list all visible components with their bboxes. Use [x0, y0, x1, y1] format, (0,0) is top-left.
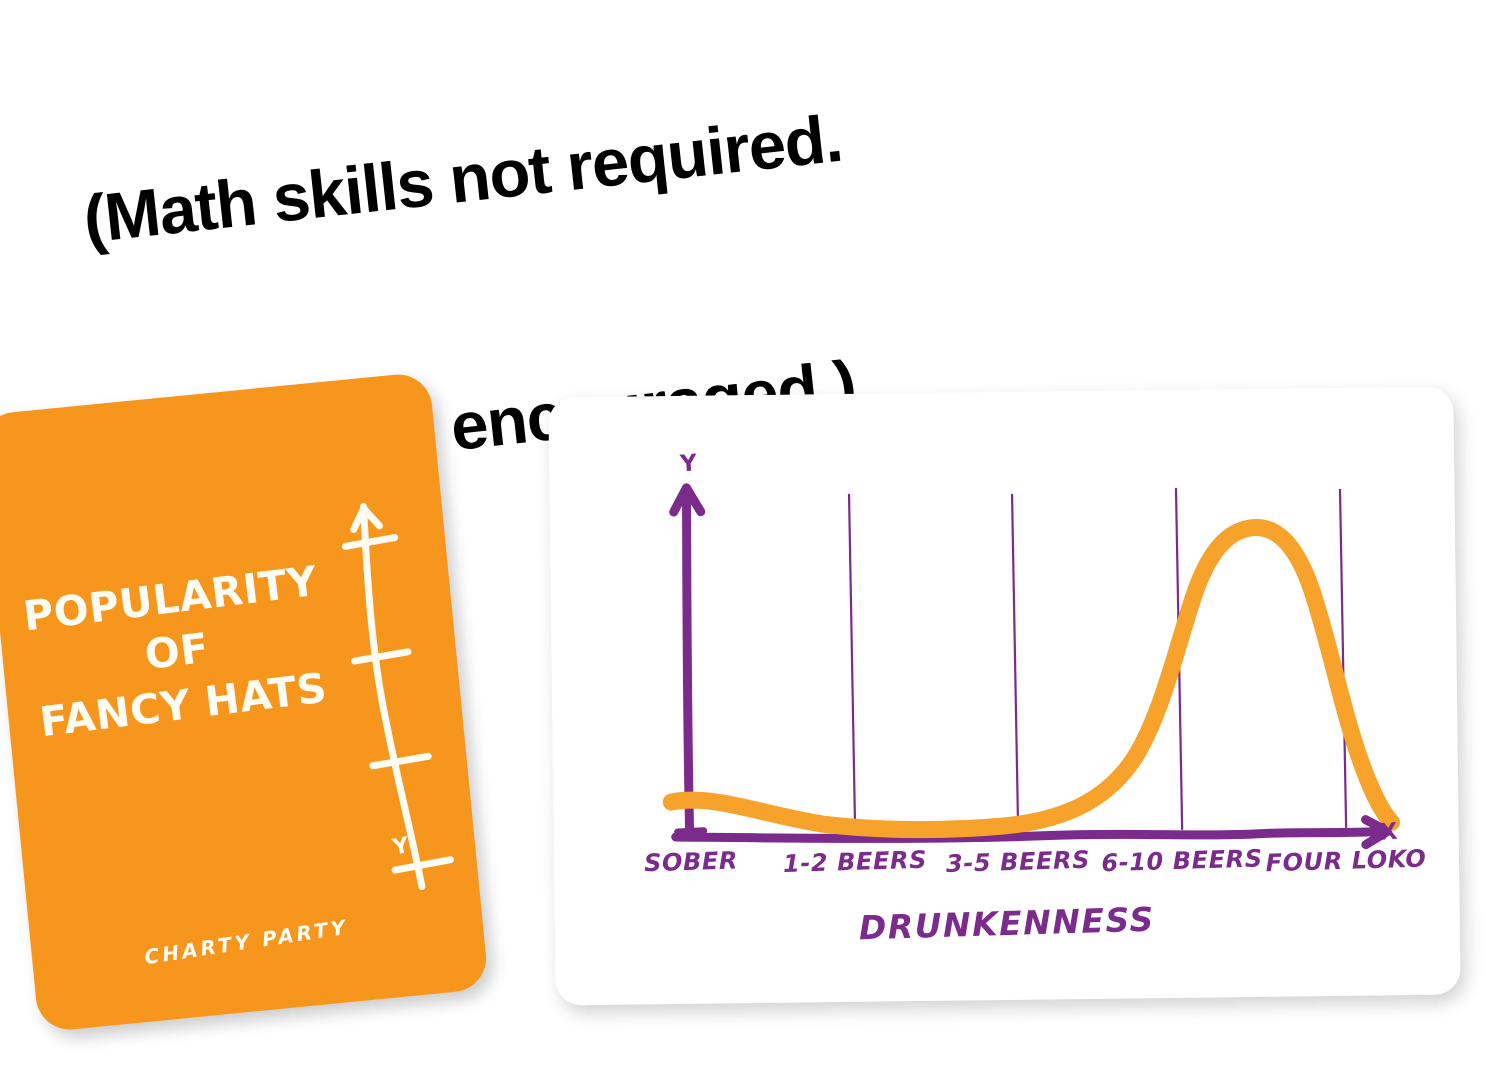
x-tick-label-6-10-beers: 6-10 BEERS: [1101, 844, 1263, 877]
chart-data-curve: [668, 526, 1392, 833]
prompt-card-title: POPULARITY OF FANCY HATS: [18, 555, 335, 750]
brand-label: CHARTY PARTY: [143, 915, 350, 970]
chart-card[interactable]: Y X SOBER 1-2 BEERS 3-5 BEERS 6-10 BEERS…: [548, 386, 1460, 1005]
chart-y-axis-label: Y: [679, 450, 697, 477]
x-tick-label-3-5-beers: 3-5 BEERS: [946, 846, 1091, 878]
x-tick-label-sober: SOBER: [644, 846, 739, 877]
headline-line-1: (Math skills not required.: [80, 79, 1023, 262]
chart-y-axis: [673, 488, 704, 837]
prompt-card[interactable]: POPULARITY OF FANCY HATS Y CHARTY PARTY: [0, 371, 489, 1032]
prompt-card-y-axis-icon: [282, 422, 467, 903]
x-tick-label-1-2-beers: 1-2 BEERS: [783, 846, 928, 878]
x-tick-label-four-loko: FOUR LOKO: [1265, 844, 1427, 877]
chart-x-axis-label: X: [1379, 819, 1398, 846]
